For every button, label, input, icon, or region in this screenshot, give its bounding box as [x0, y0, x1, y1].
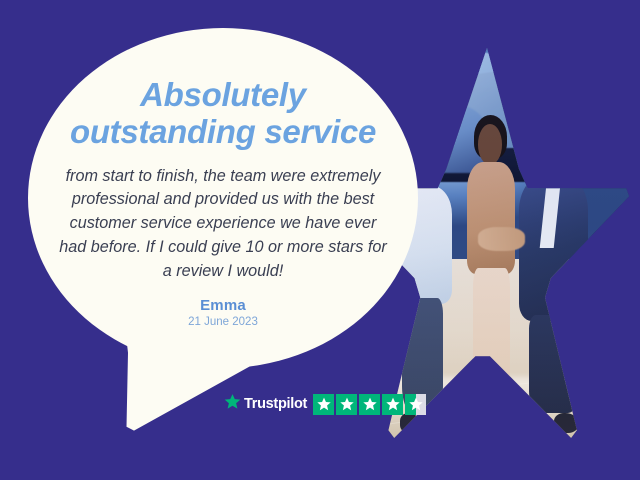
person-salesperson-right	[516, 142, 594, 431]
shoe-shape	[470, 405, 487, 430]
trustpilot-badge[interactable]: Trustpilot	[224, 393, 426, 415]
shoe-shape	[527, 413, 550, 433]
shoe-shape	[400, 413, 421, 433]
testimonial-date: 21 June 2023	[188, 316, 258, 328]
testimonial-card: Absolutely outstanding service from star…	[0, 0, 640, 480]
torso-shape	[467, 162, 515, 274]
shoe-shape	[554, 413, 579, 433]
testimonial-author: Emma	[200, 297, 246, 314]
shoe-shape	[423, 413, 445, 433]
testimonial-quote: from start to finish, the team were extr…	[54, 165, 392, 284]
rating-stars[interactable]	[313, 394, 426, 415]
rating-star-icon[interactable]	[382, 394, 403, 415]
head-shape	[478, 124, 502, 165]
trustpilot-star-icon	[224, 393, 241, 415]
rating-star-icon[interactable]	[336, 394, 357, 415]
rating-star-half-icon[interactable]	[405, 394, 426, 415]
legs-shape	[529, 315, 579, 413]
rating-star-icon[interactable]	[359, 394, 380, 415]
trustpilot-wordmark: Trustpilot	[244, 396, 307, 412]
head-shape	[536, 144, 564, 184]
handshake-shape	[478, 227, 524, 250]
hair-shape	[535, 142, 566, 165]
trustpilot-logo[interactable]: Trustpilot	[224, 393, 307, 415]
shoe-shape	[491, 405, 510, 430]
rating-star-icon[interactable]	[313, 394, 334, 415]
speech-bubble: Absolutely outstanding service from star…	[28, 28, 418, 368]
person-customer-center	[458, 118, 525, 430]
testimonial-headline: Absolutely outstanding service	[58, 76, 388, 151]
legs-shape	[473, 268, 510, 405]
